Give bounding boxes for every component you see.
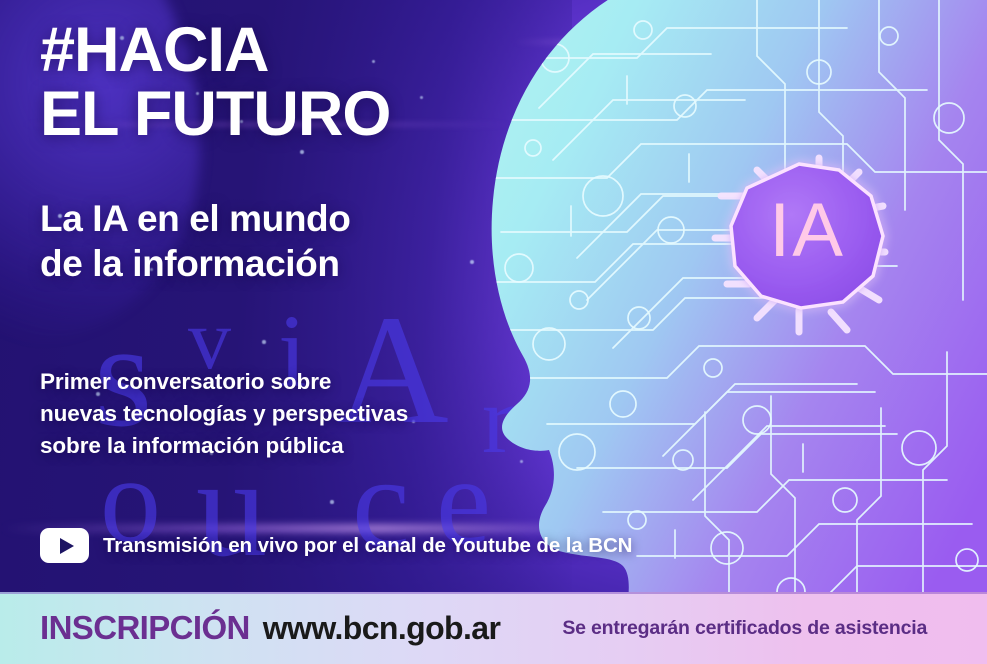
livestream-text: Transmisión en vivo por el canal de Yout… xyxy=(103,534,632,558)
livestream-notice: Transmisión en vivo por el canal de Yout… xyxy=(40,528,632,563)
registration-url[interactable]: www.bcn.gob.ar xyxy=(263,610,501,647)
youtube-play-icon[interactable] xyxy=(40,528,89,563)
description-line-1: Primer conversatorio sobre xyxy=(40,369,331,394)
poster-canvas: s v i A r b o u c e xyxy=(0,0,987,664)
footer-divider xyxy=(0,592,987,594)
certificates-note: Se entregarán certificados de asistencia xyxy=(562,617,927,640)
ia-badge-label: IA xyxy=(769,188,845,273)
subtitle-line-2: de la información xyxy=(40,243,340,284)
poster-text-column: #HACIA EL FUTURO La IA en el mundo de la… xyxy=(40,0,600,612)
registration-group: INSCRIPCIÓN www.bcn.gob.ar xyxy=(40,609,500,647)
title-line-2: EL FUTURO xyxy=(40,79,390,149)
description-line-3: sobre la información pública xyxy=(40,433,344,458)
description-line-2: nuevas tecnologías y perspectivas xyxy=(40,401,408,426)
page-title: #HACIA EL FUTURO xyxy=(40,18,390,147)
subtitle-line-1: La IA en el mundo xyxy=(40,198,350,239)
event-description: Primer conversatorio sobre nuevas tecnol… xyxy=(40,366,408,462)
page-subtitle: La IA en el mundo de la información xyxy=(40,196,350,286)
footer-bar: INSCRIPCIÓN www.bcn.gob.ar Se entregarán… xyxy=(0,592,987,664)
title-line-1: #HACIA xyxy=(40,15,269,85)
registration-label: INSCRIPCIÓN xyxy=(40,609,250,647)
